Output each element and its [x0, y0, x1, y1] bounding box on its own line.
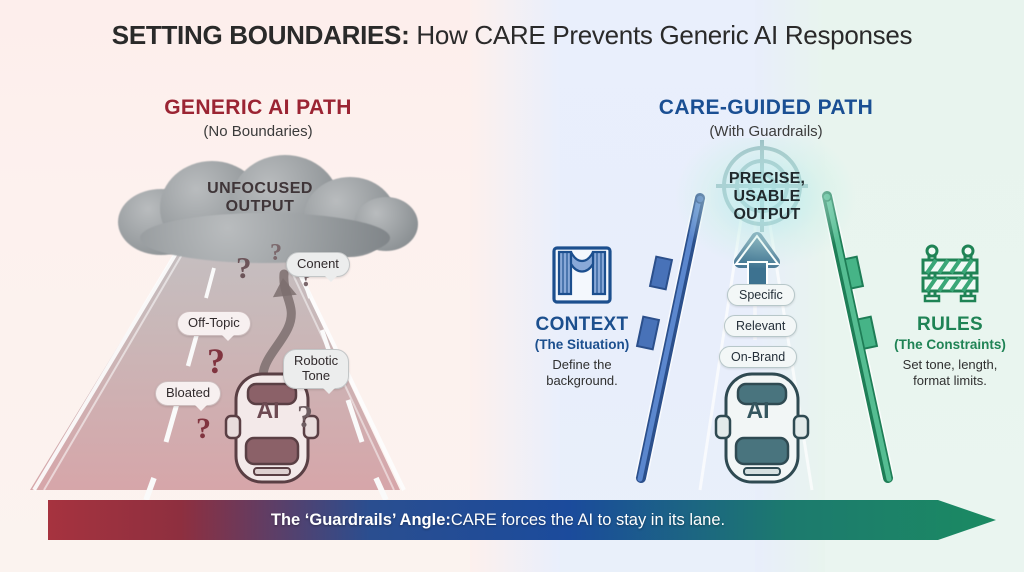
care-context-subtitle: (The Situation): [497, 337, 667, 352]
page-title-bold: SETTING BOUNDARIES:: [112, 20, 410, 50]
issue-bubble-content: Conent: [286, 252, 350, 277]
care-context-title: CONTEXT: [497, 314, 667, 336]
cloud-output-label-line2: OUTPUT: [150, 198, 370, 216]
question-mark-icon: ?: [270, 240, 282, 267]
page-title-rest: How CARE Prevents Generic AI Responses: [409, 20, 912, 50]
page-title: SETTING BOUNDARIES: How CARE Prevents Ge…: [0, 20, 1024, 51]
quality-pill-specific: Specific: [727, 284, 795, 306]
bottom-banner-rest: CARE forces the AI to stay in its lane.: [451, 511, 725, 530]
column-heading-care-title: CARE-GUIDED PATH: [556, 96, 976, 120]
precise-output-line1: PRECISE,: [692, 170, 842, 188]
column-heading-care: CARE-GUIDED PATH (With Guardrails): [556, 96, 976, 140]
road-barricade-icon: [865, 236, 1024, 314]
cloud-output-label-line1: UNFOCUSED: [150, 180, 370, 198]
care-block-context: CONTEXT (The Situation) Define the backg…: [497, 236, 667, 388]
column-heading-generic-sub: (No Boundaries): [48, 123, 468, 140]
infographic-canvas: SETTING BOUNDARIES: How CARE Prevents Ge…: [0, 0, 1024, 572]
bottom-banner-bold: The ‘Guardrails’ Angle:: [271, 511, 451, 530]
precise-output-label: PRECISE, USABLE OUTPUT: [692, 170, 842, 225]
bottom-banner-text: The ‘Guardrails’ Angle: CARE forces the …: [48, 496, 948, 544]
quality-pill-relevant: Relevant: [724, 315, 797, 337]
precise-output-line2: USABLE: [692, 188, 842, 206]
care-rules-desc: Set tone, length, format limits.: [865, 357, 1024, 388]
question-mark-icon: ?: [236, 250, 252, 286]
care-block-rules: RULES (The Constraints) Set tone, length…: [865, 236, 1024, 388]
issue-bubble-off-topic: Off-Topic: [177, 311, 251, 336]
care-rules-title: RULES: [865, 314, 1024, 336]
care-context-desc: Define the background.: [497, 357, 667, 388]
care-rules-subtitle: (The Constraints): [865, 337, 1024, 352]
column-heading-generic-title: GENERIC AI PATH: [48, 96, 468, 120]
precise-output-line3: OUTPUT: [692, 206, 842, 224]
question-mark-icon: ?: [297, 398, 313, 435]
issue-bubble-robotic-tone: Robotic Tone: [283, 349, 349, 389]
issue-bubble-bloated: Bloated: [155, 381, 221, 406]
cloud-output-label: UNFOCUSED OUTPUT: [150, 180, 370, 217]
quality-pill-on-brand: On-Brand: [719, 346, 797, 368]
column-heading-generic: GENERIC AI PATH (No Boundaries): [48, 96, 468, 140]
stage-curtain-icon: [497, 236, 667, 314]
